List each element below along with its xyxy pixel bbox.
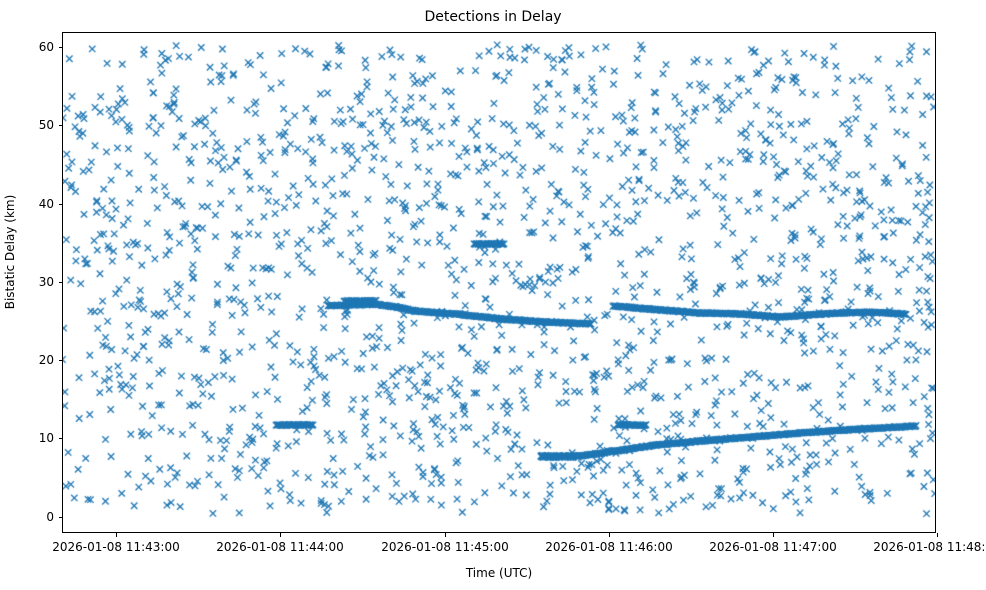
x-tick-mark [937,533,938,537]
plot-axes-area [62,32,936,533]
x-axis-label: Time (UTC) [62,566,936,580]
x-tick-label: 2026-01-08 11:45:00 [365,541,525,553]
scatter-plot-canvas [63,33,936,533]
x-tick-label: 2026-01-08 11:44:00 [200,541,360,553]
x-tick-mark [116,533,117,537]
x-tick-mark [609,533,610,537]
x-tick-label: 2026-01-08 11:47:00 [693,541,853,553]
figure-canvas: Detections in Delay 0102030405060 2026-0… [0,0,986,590]
x-tick-mark [445,533,446,537]
x-tick-mark [280,533,281,537]
chart-title: Detections in Delay [0,8,986,26]
x-tick-label: 2026-01-08 11:48:00 [857,541,986,553]
y-axis-label: Bistatic Delay (km) [3,32,17,472]
x-tick-label: 2026-01-08 11:43:00 [36,541,196,553]
x-tick-mark [773,533,774,537]
y-tick-label: 0 [8,511,54,523]
x-tick-label: 2026-01-08 11:46:00 [529,541,689,553]
